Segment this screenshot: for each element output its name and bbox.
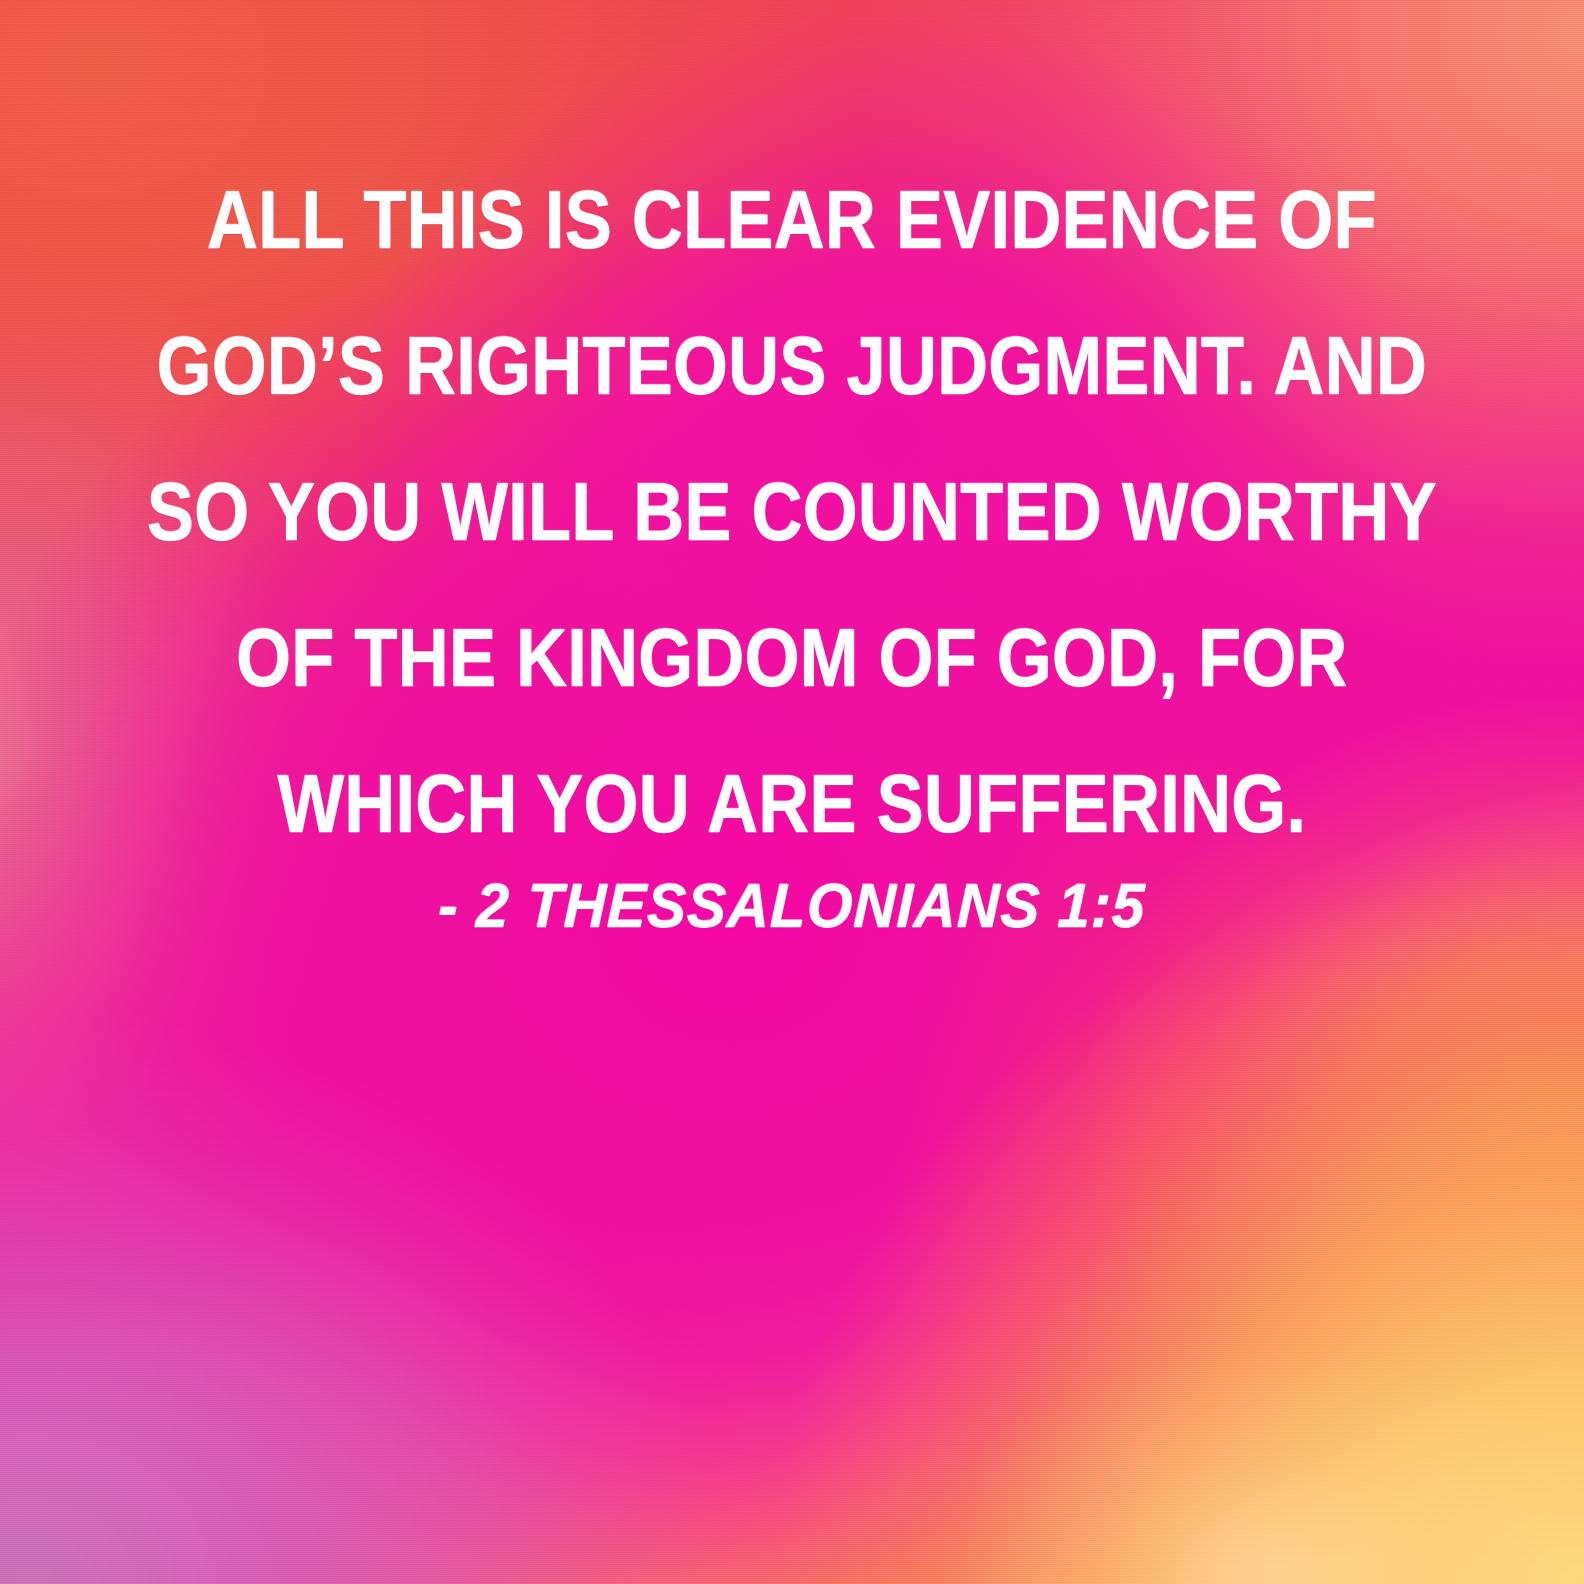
verse-line-5: WHICH YOU ARE SUFFERING. bbox=[145, 732, 1438, 878]
verse-line-3: SO YOU WILL BE COUNTED WORTHY bbox=[145, 440, 1438, 586]
verse-text-block: ALL THIS IS CLEAR EVIDENCE OF GOD’S RIGH… bbox=[0, 148, 1584, 878]
verse-image-canvas: ALL THIS IS CLEAR EVIDENCE OF GOD’S RIGH… bbox=[0, 0, 1584, 1584]
verse-line-2: GOD’S RIGHTEOUS JUDGMENT. AND bbox=[145, 294, 1438, 440]
verse-reference-label: - 2 THESSALONIANS 1:5 bbox=[437, 868, 1147, 946]
verse-line-4: OF THE KINGDOM OF GOD, FOR bbox=[145, 586, 1438, 732]
verse-attribution-block: - 2 THESSALONIANS 1:5 bbox=[0, 868, 1584, 946]
verse-line-1: ALL THIS IS CLEAR EVIDENCE OF bbox=[145, 148, 1438, 294]
